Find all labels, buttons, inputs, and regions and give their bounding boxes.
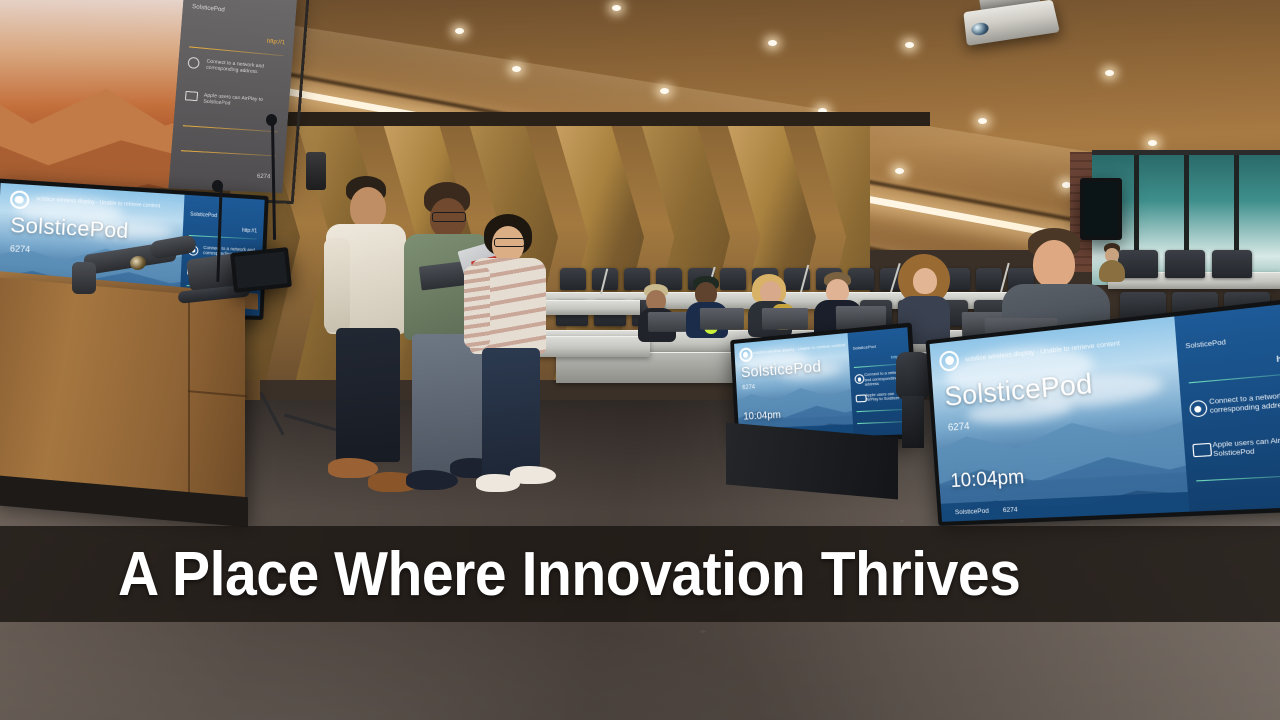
right-panel-address: http://1 — [1276, 353, 1280, 364]
solstice-info-panel: SolsticePod http://1 Connect to a networ… — [1174, 302, 1280, 512]
right-instruction-1: Connect to a network and corresponding a… — [1209, 389, 1280, 415]
seat — [976, 268, 1002, 290]
soffit — [230, 112, 930, 126]
downlight — [978, 118, 987, 124]
microphone-head-icon — [212, 180, 223, 192]
right-panel-header: SolsticePod — [1185, 339, 1226, 351]
proj-panel-header: SolsticePod — [192, 4, 225, 14]
desk-row — [530, 336, 650, 357]
solstice-logo-icon — [739, 347, 753, 362]
solstice-screen: solstice wireless display - Unable to re… — [930, 302, 1280, 522]
downlight — [455, 28, 464, 34]
lectern-panel-address: http://1 — [242, 228, 257, 235]
title-banner: A Place Where Innovation Thrives — [0, 526, 1280, 622]
laptop — [762, 308, 808, 330]
proj-instruction-2: Apple users can AirPlay to SolsticePod — [203, 92, 283, 111]
proj-instruction-1: Connect to a network and corresponding a… — [206, 58, 286, 78]
lecture-hall-photo: SolsticePod http://1 Connect to a networ… — [0, 0, 1280, 720]
downlight — [1148, 140, 1157, 146]
lectern-panel-header: SolsticePod — [190, 212, 217, 220]
seat — [848, 268, 874, 290]
projector-lens-icon — [971, 22, 990, 37]
laptop — [648, 312, 688, 332]
solstice-logo-icon — [9, 190, 29, 209]
shoe — [510, 466, 556, 484]
proj-code: 6274 — [257, 173, 271, 180]
laptop — [700, 308, 744, 330]
downlight — [895, 168, 904, 174]
downlight — [660, 88, 669, 94]
downlight — [768, 40, 777, 46]
downlight — [905, 42, 914, 48]
seat — [1212, 250, 1252, 278]
wall-speaker — [306, 152, 326, 190]
downlight — [512, 66, 521, 72]
mid-clock: 10:04pm — [743, 409, 781, 422]
cast-icon — [185, 91, 198, 101]
right-pod-code: 6274 — [948, 421, 970, 434]
cast-icon — [1192, 443, 1212, 457]
solstice-screen: solstice wireless display - Unable to re… — [734, 327, 914, 440]
proj-panel-address: http://1 — [267, 39, 285, 47]
right-clock: 10:04pm — [950, 466, 1025, 493]
right-instruction-2: Apple users can AirPlay to SolsticePod — [1212, 434, 1280, 459]
camera-stand — [902, 396, 924, 448]
wall-monitor — [1080, 178, 1122, 240]
solstice-wallpaper: solstice wireless display - Unable to re… — [930, 316, 1190, 521]
seat — [720, 268, 746, 290]
mid-panel-header: SolsticePod — [853, 344, 876, 351]
network-icon — [1188, 400, 1207, 418]
glasses-icon — [494, 238, 525, 247]
right-bb-name: SolsticePod — [941, 507, 989, 516]
right-bb-code: 6274 — [989, 506, 1018, 514]
projected-info-panel: SolsticePod http://1 Connect to a networ… — [168, 0, 298, 193]
lectern-pod-code: 6274 — [10, 244, 31, 255]
projected-wallpaper — [0, 0, 185, 188]
document-camera-base — [72, 262, 96, 294]
network-icon — [854, 374, 864, 384]
aux-monitor[interactable] — [230, 247, 292, 293]
mid-pod-code: 6274 — [742, 385, 755, 392]
downlight — [612, 5, 621, 11]
seat — [560, 268, 586, 290]
downlight — [1105, 70, 1114, 76]
page-title: A Place Where Innovation Thrives — [118, 539, 1020, 610]
glasses-icon — [432, 212, 466, 222]
microphone-head-icon — [266, 114, 277, 126]
projection-screen: SolsticePod http://1 Connect to a networ… — [0, 0, 298, 193]
conference-camera — [896, 352, 930, 400]
seat — [1165, 250, 1205, 278]
network-icon — [187, 57, 199, 69]
